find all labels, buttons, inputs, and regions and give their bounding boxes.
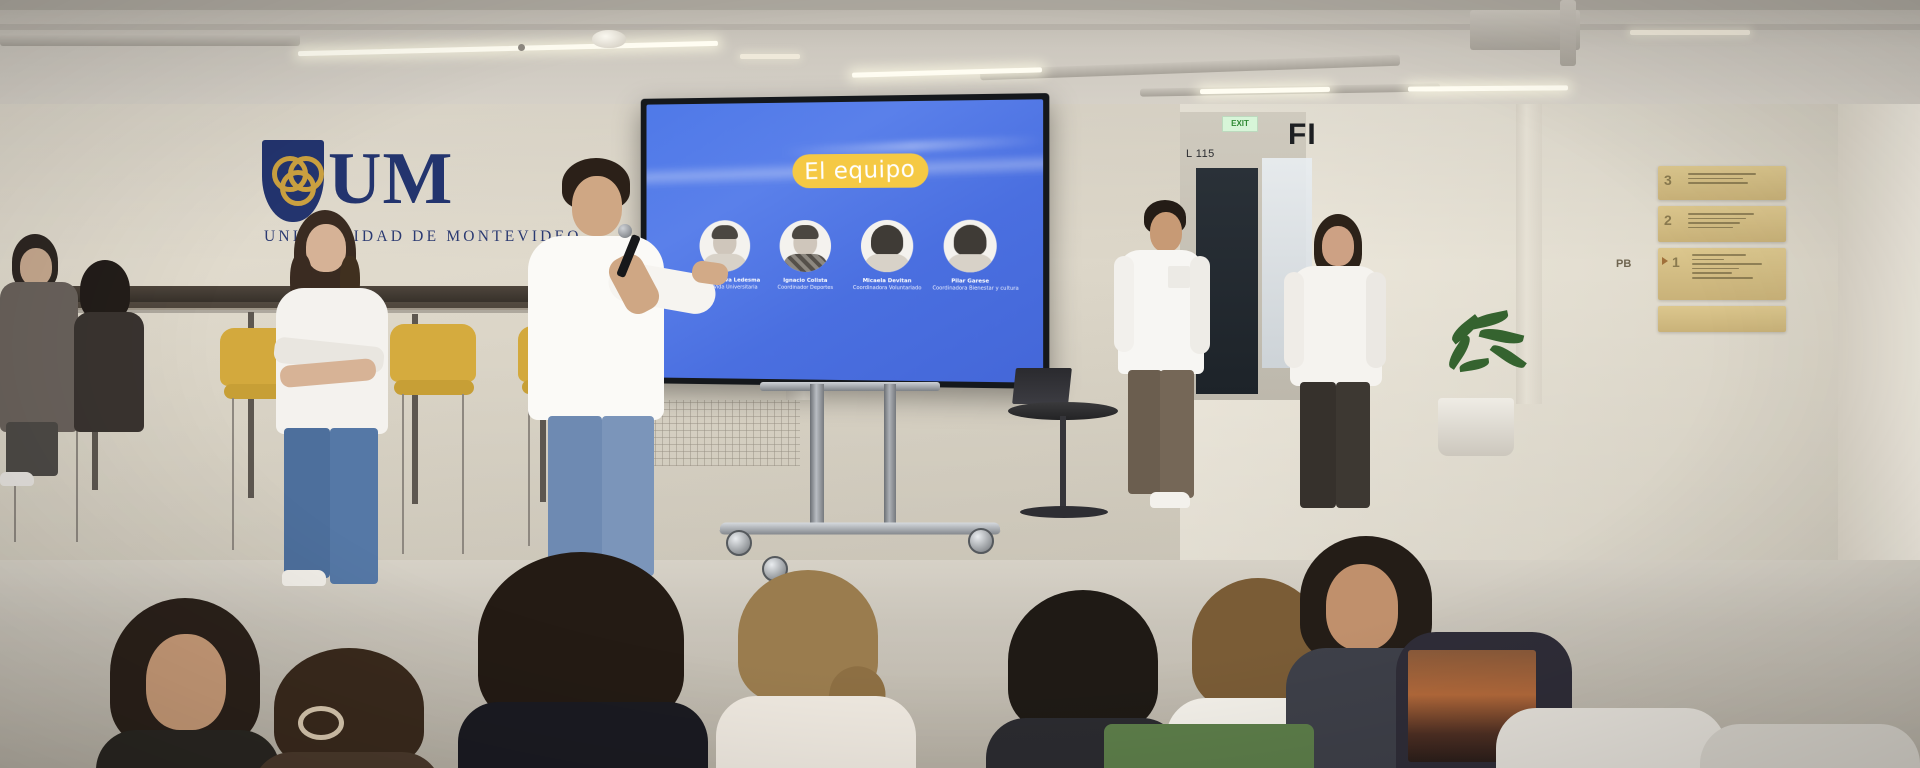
directory-lines [1688, 173, 1782, 187]
audience-chair-green[interactable] [1104, 724, 1314, 768]
tv-stand-base [719, 523, 1001, 535]
plant-pot [1438, 398, 1514, 456]
team-member-row: Santiago Silva Ledesma Director Vida Uni… [689, 220, 1008, 322]
tv-screen: El equipo Santiago Silva Ledesma Directo… [647, 99, 1044, 382]
team-member: Ignacio Colista Coordinador Deportes [769, 220, 842, 320]
avatar [861, 220, 913, 272]
room-code-label: L 115 [1186, 148, 1215, 160]
directory-level-number: 2 [1664, 212, 1672, 228]
floor-sign-fi: FI [1288, 118, 1317, 152]
team-member: Pilar Garese Coordinadora Bienestar y cu… [932, 220, 1008, 322]
presenter-woman-left [264, 210, 414, 610]
sprinkler-head [518, 44, 525, 51]
directory-sign-level-1: 1 [1658, 248, 1786, 300]
um-letters: UM [328, 144, 453, 215]
right-arrow-icon [1662, 257, 1668, 265]
microphone-head [618, 224, 632, 238]
table-base [1020, 506, 1108, 518]
avatar [780, 220, 831, 272]
table-leg [1060, 416, 1066, 512]
directory-level-number: 3 [1664, 172, 1672, 188]
ceiling-duct [1560, 0, 1576, 66]
shirt-pocket [1168, 266, 1190, 288]
audience-member [1496, 698, 1726, 768]
slide-title: El equipo [804, 156, 916, 185]
ceiling-light-tube [740, 54, 800, 59]
speaker-with-mic [524, 158, 704, 598]
ceiling-duct [0, 34, 300, 46]
seated-person-left-2 [74, 260, 148, 460]
member-role: Coordinadora Bienestar y cultura [932, 286, 1008, 293]
audience-member [458, 552, 708, 768]
laptop[interactable] [1012, 368, 1072, 404]
ceiling-dome-light [592, 30, 626, 48]
directory-level-number: 1 [1672, 254, 1680, 270]
avatar [944, 220, 997, 273]
team-member: Micaela Devitan Coordinadora Voluntariad… [850, 220, 924, 321]
directory-sign-level-2: 2 [1658, 206, 1786, 242]
audience-member [1700, 710, 1920, 768]
structural-column [1838, 104, 1920, 574]
audience-member [252, 648, 442, 768]
directory-sign-ground [1658, 306, 1786, 332]
tv-stand-column [810, 384, 824, 534]
caster-wheel [726, 530, 752, 556]
directory-lines [1688, 213, 1782, 231]
tv-mount-bar [760, 382, 940, 391]
slide-title-pill: El equipo [792, 153, 928, 188]
exit-sign: EXIT [1222, 116, 1258, 132]
presenter-woman-right [1284, 214, 1386, 540]
member-role: Coordinadora Voluntariado [850, 285, 924, 292]
directory-sign-level-3: 3 [1658, 166, 1786, 200]
photo-scene: UM UNIVERSIDAD DE MONTEVIDEO EXIT FI L 1… [0, 0, 1920, 768]
member-role: Coordinador Deportes [769, 285, 842, 292]
audience-member [708, 570, 920, 768]
caster-wheel [968, 528, 994, 554]
tv-stand-column [884, 384, 896, 532]
ground-floor-label: PB [1616, 258, 1631, 270]
ceiling-light-tube [1630, 30, 1750, 35]
trinity-knot-icon [272, 156, 314, 198]
presenter-man-right [1106, 200, 1216, 530]
ceiling [0, 0, 1920, 108]
glasses-icon [298, 706, 344, 740]
directory-lines [1692, 254, 1782, 282]
ceiling-beam [0, 0, 1920, 10]
